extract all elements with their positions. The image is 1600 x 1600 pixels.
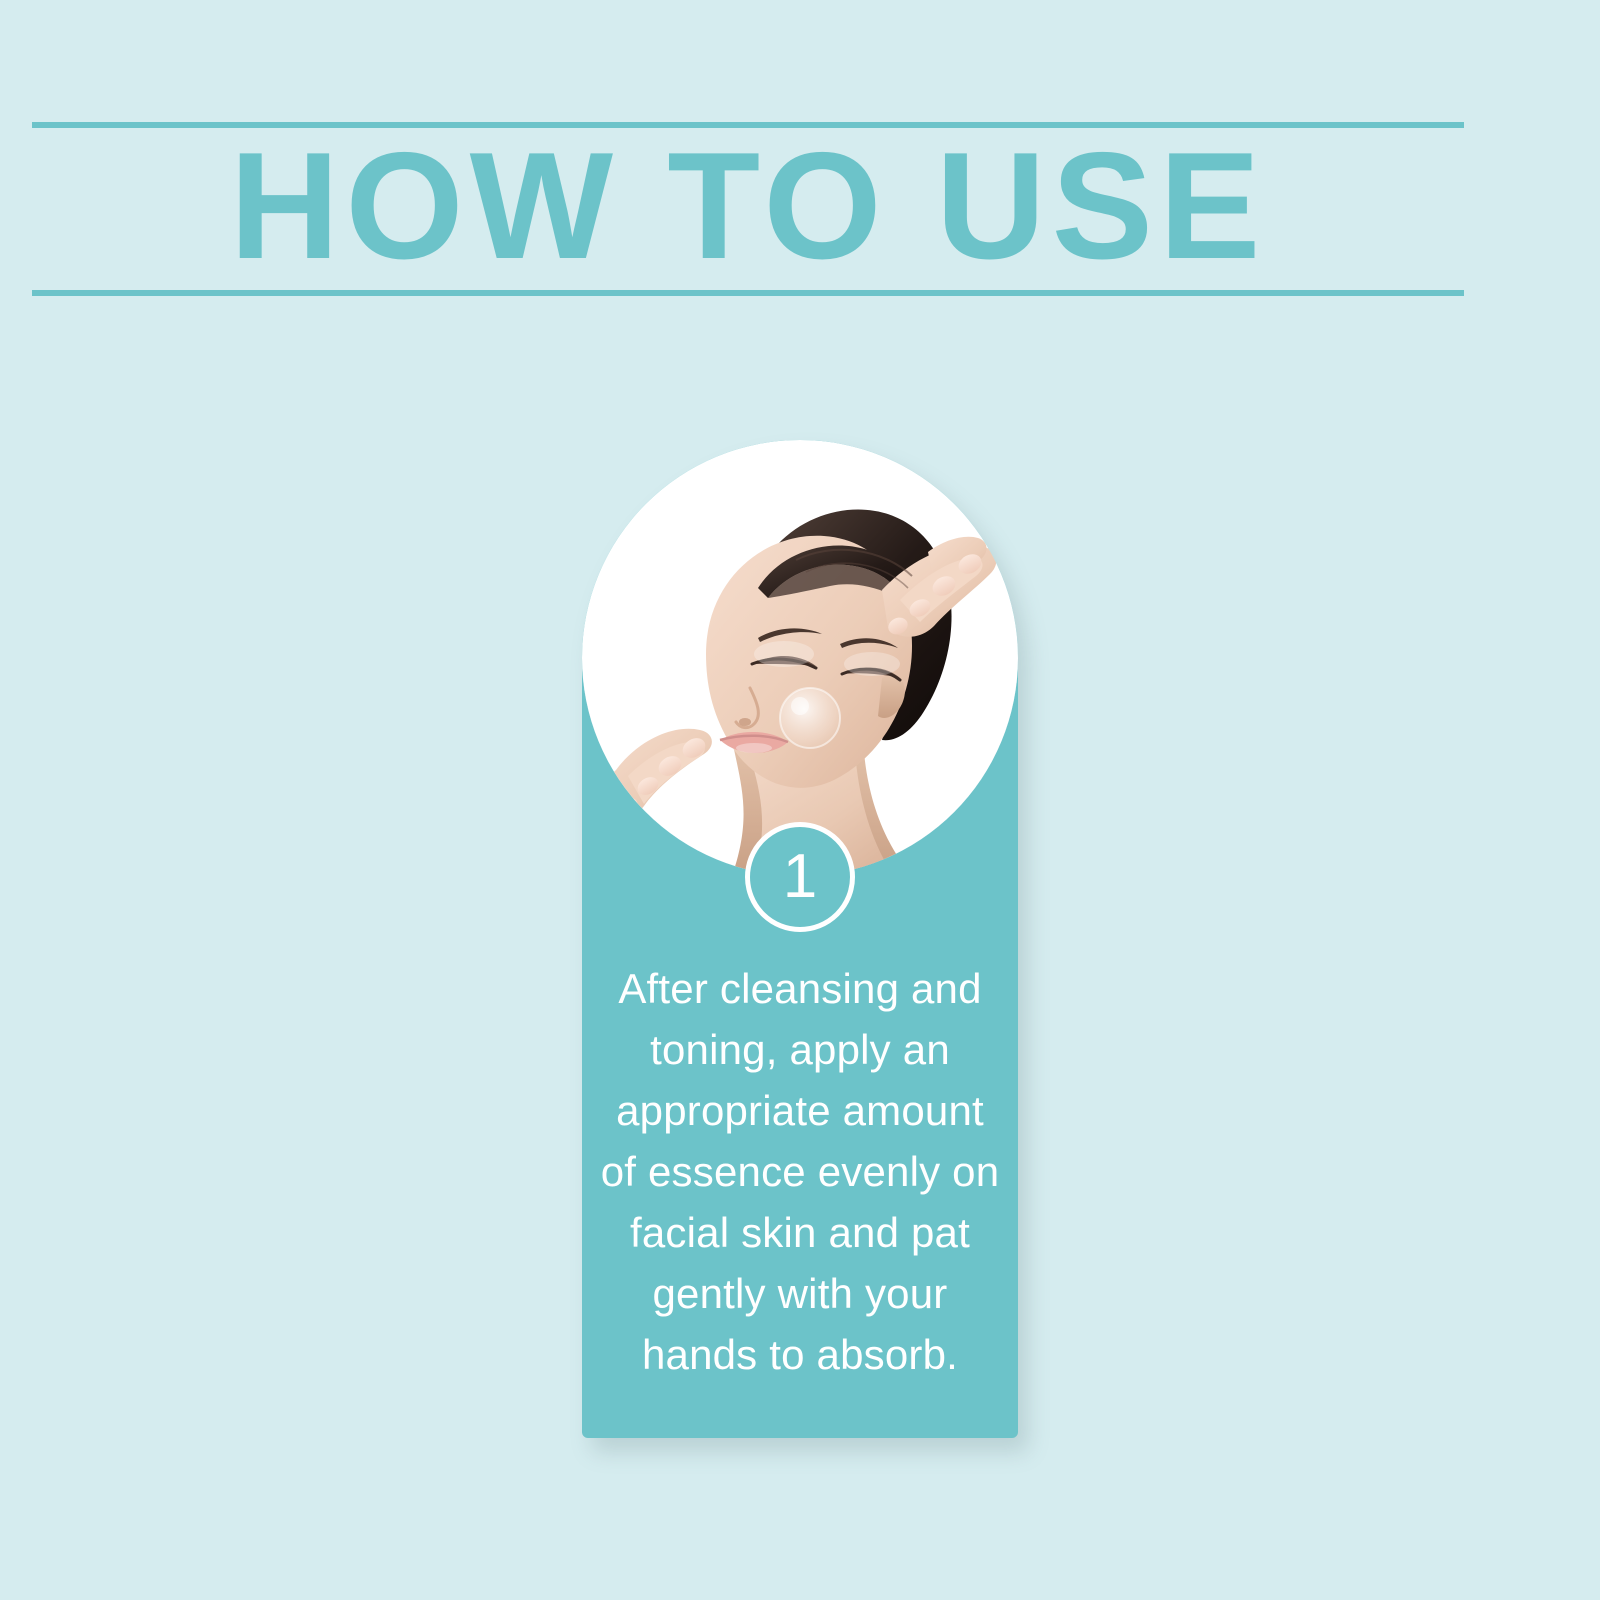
step-number-badge: 1 bbox=[745, 822, 855, 932]
step-photo bbox=[582, 440, 1018, 876]
step-card-1: 1 After cleansing and toning, apply an a… bbox=[582, 440, 1018, 1438]
header-bottom-divider bbox=[32, 290, 1464, 296]
page-header: HOW TO USE bbox=[0, 0, 1600, 330]
step-instruction-text: After cleansing and toning, apply an app… bbox=[600, 958, 1000, 1385]
page-title: HOW TO USE bbox=[32, 126, 1464, 286]
woman-applying-essence-icon bbox=[582, 440, 1018, 876]
